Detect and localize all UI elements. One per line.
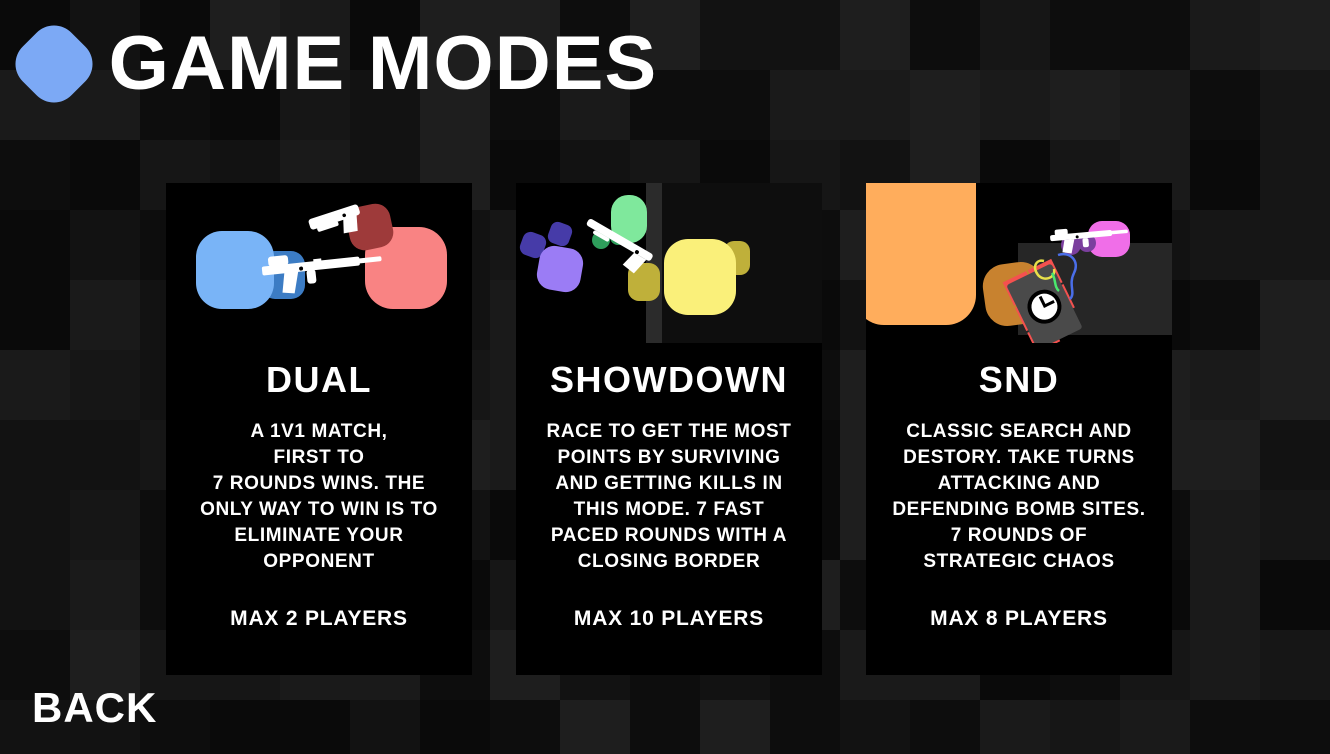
background-tile <box>1190 420 1260 490</box>
background-tile <box>1190 700 1260 754</box>
background-tile <box>1190 630 1260 700</box>
background-tile <box>1190 560 1260 630</box>
background-tile <box>70 280 140 350</box>
background-tile <box>980 700 1050 754</box>
background-tile <box>70 560 140 630</box>
game-mode-card-snd[interactable]: SND CLASSIC SEARCH AND DESTORY. TAKE TUR… <box>866 183 1172 675</box>
background-tile <box>1260 630 1330 700</box>
showdown-art-svg <box>516 183 822 343</box>
background-tile <box>1050 700 1120 754</box>
background-tile <box>1260 350 1330 420</box>
background-tile <box>70 350 140 420</box>
background-tile <box>840 700 910 754</box>
card-title-showdown: SHOWDOWN <box>550 359 788 401</box>
game-mode-card-dual[interactable]: DUAL A 1V1 MATCH, FIRST TO 7 ROUNDS WINS… <box>166 183 472 675</box>
dual-art-svg <box>166 183 472 343</box>
card-art-dual <box>166 183 472 343</box>
background-tile <box>0 350 70 420</box>
card-title-snd: SND <box>979 359 1060 401</box>
background-tile <box>420 700 490 754</box>
background-tile <box>0 210 70 280</box>
background-tile <box>0 560 70 630</box>
background-tile <box>1190 490 1260 560</box>
background-tile <box>350 700 420 754</box>
background-tile <box>1190 350 1260 420</box>
card-description-dual: A 1V1 MATCH, FIRST TO 7 ROUNDS WINS. THE… <box>190 419 448 575</box>
card-art-showdown <box>516 183 822 343</box>
page-title: GAME MODES <box>109 26 658 102</box>
back-button[interactable]: BACK <box>32 684 157 732</box>
background-tile <box>70 490 140 560</box>
player-blob-orange <box>866 183 976 325</box>
card-players-showdown: MAX 10 PLAYERS <box>574 607 764 631</box>
card-description-showdown: RACE TO GET THE MOST POINTS BY SURVIVING… <box>537 419 802 575</box>
background-tile <box>0 280 70 350</box>
background-tile <box>0 420 70 490</box>
diamond-blob-icon <box>5 15 102 112</box>
background-tile <box>1260 140 1330 210</box>
header: GAME MODES <box>0 0 1330 128</box>
game-mode-card-list: DUAL A 1V1 MATCH, FIRST TO 7 ROUNDS WINS… <box>166 183 1174 675</box>
background-tile <box>210 700 280 754</box>
background-tile <box>1260 420 1330 490</box>
card-description-snd: CLASSIC SEARCH AND DESTORY. TAKE TURNS A… <box>882 419 1155 575</box>
card-players-snd: MAX 8 PLAYERS <box>930 607 1108 631</box>
background-tile <box>70 420 140 490</box>
background-tile <box>1120 700 1190 754</box>
snd-art-svg <box>866 183 1172 343</box>
card-title-dual: DUAL <box>266 359 372 401</box>
card-art-snd <box>866 183 1172 343</box>
background-tile <box>1260 280 1330 350</box>
background-tile <box>1260 560 1330 630</box>
background-tile <box>630 700 700 754</box>
background-tile <box>280 700 350 754</box>
background-tile <box>0 140 70 210</box>
background-tile <box>1190 280 1260 350</box>
background-tile <box>1190 140 1260 210</box>
background-tile <box>0 490 70 560</box>
background-tile <box>700 700 770 754</box>
background-tile <box>770 700 840 754</box>
background-tile <box>1260 700 1330 754</box>
background-tile <box>1190 210 1260 280</box>
background-tile <box>70 140 140 210</box>
background-tile <box>560 700 630 754</box>
game-modes-screen: GAME MODES <box>0 0 1330 754</box>
background-tile <box>490 700 560 754</box>
background-tile <box>910 700 980 754</box>
player-blob-yellow <box>664 239 736 315</box>
background-tile <box>1260 210 1330 280</box>
card-players-dual: MAX 2 PLAYERS <box>230 607 408 631</box>
background-tile <box>70 210 140 280</box>
background-tile <box>1260 490 1330 560</box>
game-mode-card-showdown[interactable]: SHOWDOWN RACE TO GET THE MOST POINTS BY … <box>516 183 822 675</box>
